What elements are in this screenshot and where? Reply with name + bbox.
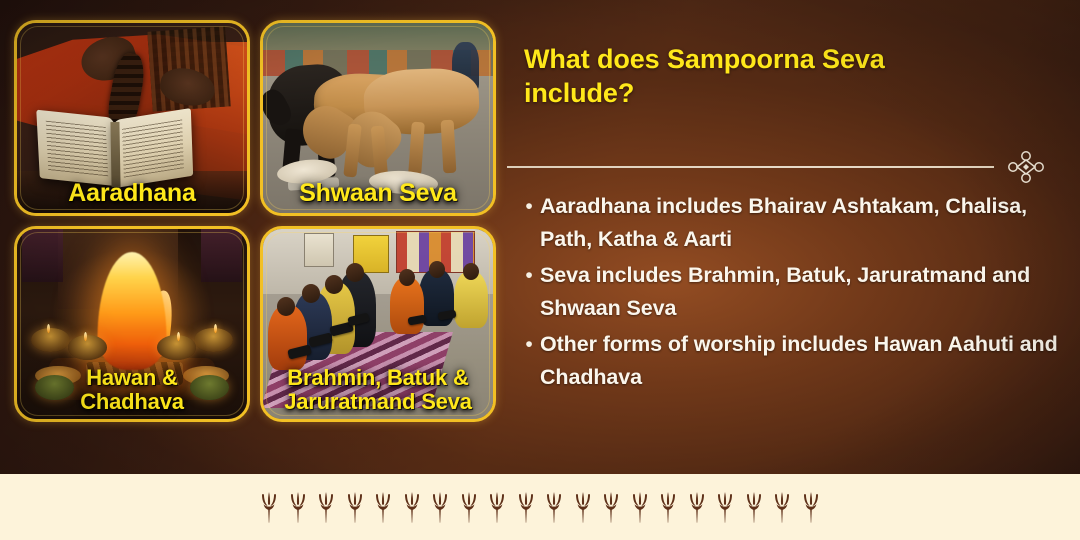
trishul-icon — [516, 491, 536, 523]
trishul-icon — [544, 491, 564, 523]
card-brahmin-batuk-jaruratmand-seva[interactable]: Brahmin, Batuk & Jaruratmand Seva — [260, 226, 496, 422]
list-item: • Seva includes Brahmin, Batuk, Jaruratm… — [518, 259, 1070, 325]
card-hawan-chadhava[interactable]: Hawan & Chadhava — [14, 226, 250, 422]
slide-background: Aaradhana Shwaan Seva — [0, 0, 1080, 540]
trishul-icon — [715, 491, 735, 523]
trishul-icon — [316, 491, 336, 523]
trishul-icon — [658, 491, 678, 523]
trishul-icon — [630, 491, 650, 523]
card-label-line1: Hawan & — [86, 365, 178, 390]
trishul-icon — [801, 491, 821, 523]
card-label-shwaan-seva: Shwaan Seva — [263, 181, 493, 207]
card-label-line1: Brahmin, Batuk & — [287, 365, 468, 390]
trishul-icon — [487, 491, 507, 523]
trishul-icon — [430, 491, 450, 523]
trishul-icon — [345, 491, 365, 523]
bullet-text: Other forms of worship includes Hawan Aa… — [540, 328, 1060, 394]
image-card-grid: Aaradhana Shwaan Seva — [14, 20, 496, 428]
card-aaradhana[interactable]: Aaradhana — [14, 20, 250, 216]
card-label-aaradhana: Aaradhana — [17, 181, 247, 207]
card-shwaan-seva[interactable]: Shwaan Seva — [260, 20, 496, 216]
page-title: What does Sampoorna Seva include? — [524, 42, 954, 110]
card-label-line2: Chadhava — [80, 389, 184, 414]
bullet-text: Aaradhana includes Bhairav Ashtakam, Cha… — [540, 190, 1060, 256]
trishul-icon — [402, 491, 422, 523]
bullet-marker-icon: • — [518, 328, 540, 361]
trishul-icon — [687, 491, 707, 523]
trishul-icon — [288, 491, 308, 523]
right-content: What does Sampoorna Seva include? — [524, 42, 1064, 110]
list-item: • Other forms of worship includes Hawan … — [518, 328, 1070, 394]
trishul-ornament-row — [0, 474, 1080, 540]
bullet-text: Seva includes Brahmin, Batuk, Jaruratman… — [540, 259, 1060, 325]
footer-band — [0, 474, 1080, 540]
divider-line — [507, 166, 994, 168]
bullet-marker-icon: • — [518, 259, 540, 292]
bullet-list: • Aaradhana includes Bhairav Ashtakam, C… — [518, 190, 1070, 397]
divider — [507, 150, 1052, 184]
trishul-icon — [459, 491, 479, 523]
card-label-brahmin-batuk: Brahmin, Batuk & Jaruratmand Seva — [263, 366, 493, 413]
trishul-icon — [744, 491, 764, 523]
trishul-icon — [373, 491, 393, 523]
card-label-line2: Jaruratmand Seva — [284, 389, 472, 414]
bullet-marker-icon: • — [518, 190, 540, 223]
list-item: • Aaradhana includes Bhairav Ashtakam, C… — [518, 190, 1070, 256]
card-label-hawan-chadhava: Hawan & Chadhava — [17, 366, 247, 413]
trishul-icon — [601, 491, 621, 523]
trishul-icon — [772, 491, 792, 523]
trishul-icon — [259, 491, 279, 523]
trishul-icon — [573, 491, 593, 523]
diamond-knot-ornament-icon — [1004, 150, 1048, 184]
